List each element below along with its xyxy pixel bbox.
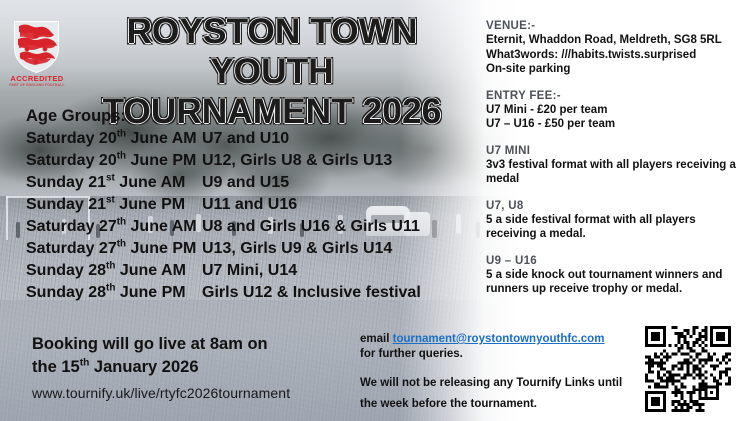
title-line-1: ROYSTON TOWN YOUTH bbox=[127, 12, 418, 91]
age-group-teams: U7 and U10 bbox=[202, 128, 289, 150]
contact-block: email tournament@roystontownyouthfc.com … bbox=[360, 332, 628, 415]
date-ordinal: st bbox=[106, 195, 115, 206]
date-ordinal: th bbox=[117, 129, 126, 140]
poster-title: ROYSTON TOWN YOUTH TOURNAMENT 2026 bbox=[72, 12, 472, 132]
venue-line: What3words: ///habits.twists.surprised bbox=[486, 48, 744, 63]
title-line-2: TOURNAMENT 2026 bbox=[72, 92, 472, 132]
email-prefix-label: email bbox=[360, 333, 393, 345]
qr-code-image bbox=[645, 326, 731, 412]
age-group-date: Saturday 20th June PM bbox=[26, 150, 202, 172]
age-group-row: Sunday 21st June AMU9 and U15 bbox=[26, 172, 456, 194]
u9-u16-format-block: U9 – U16 5 a side knock out tournament w… bbox=[486, 255, 744, 297]
qr-code-booking-link[interactable] bbox=[641, 322, 735, 416]
booking-line-1: Booking will go live at 8am on bbox=[32, 333, 342, 356]
age-group-date: Sunday 21st June AM bbox=[26, 172, 202, 194]
u7-mini-line: medal bbox=[486, 172, 744, 187]
venue-line: On-site parking bbox=[486, 62, 744, 77]
age-group-row: Sunday 28th June PMGirls U12 & Inclusive… bbox=[26, 282, 456, 304]
booking-block: Booking will go live at 8am on the 15th … bbox=[32, 333, 342, 401]
age-groups-heading: Age Groups: bbox=[26, 107, 126, 126]
age-group-teams: U12, Girls U8 & Girls U13 bbox=[202, 150, 392, 172]
date-ordinal: th bbox=[117, 217, 126, 228]
info-column: VENUE:- Eternit, Whaddon Road, Meldreth,… bbox=[486, 20, 744, 310]
tournify-note-line-1: We will not be releasing any Tournify Li… bbox=[360, 373, 628, 394]
u7-u8-line: receiving a medal. bbox=[486, 227, 744, 242]
crest-sublabel: PART OF ENGLAND FOOTBALL bbox=[9, 83, 65, 87]
age-group-date: Saturday 27th June PM bbox=[26, 238, 202, 260]
u9-u16-line: runners up receive trophy or medal. bbox=[486, 282, 744, 297]
u7-u8-line: 5 a side festival format with all player… bbox=[486, 213, 744, 228]
venue-block: VENUE:- Eternit, Whaddon Road, Meldreth,… bbox=[486, 20, 744, 77]
age-group-teams: U9 and U15 bbox=[202, 172, 289, 194]
u9-u16-heading: U9 – U16 bbox=[486, 255, 744, 267]
booking-ordinal: th bbox=[80, 358, 90, 369]
booking-line-2-pre: the 15 bbox=[32, 358, 80, 376]
date-ordinal: th bbox=[117, 151, 126, 162]
age-group-teams: U8 and Girls U16 & Girls U11 bbox=[202, 216, 420, 238]
age-group-teams: Girls U12 & Inclusive festival bbox=[202, 282, 421, 304]
entry-fee-line: U7 Mini - £20 per team bbox=[486, 103, 744, 118]
age-group-date: Saturday 20th June AM bbox=[26, 128, 202, 150]
venue-line: Eternit, Whaddon Road, Meldreth, SG8 5RL bbox=[486, 33, 744, 48]
tournament-poster: ACCREDITED PART OF ENGLAND FOOTBALL ROYS… bbox=[0, 0, 749, 421]
age-group-row: Sunday 21st June PMU11 and U16 bbox=[26, 194, 456, 216]
entry-fee-line: U7 – U16 - £50 per team bbox=[486, 117, 744, 132]
u9-u16-line: 5 a side knock out tournament winners an… bbox=[486, 268, 744, 283]
u7-mini-heading: U7 MINI bbox=[486, 145, 744, 157]
age-group-row: Saturday 27th June PMU13, Girls U9 & Gir… bbox=[26, 238, 456, 260]
tournify-note-line-2: the week before the tournament. bbox=[360, 394, 628, 415]
age-group-row: Saturday 20th June PMU12, Girls U8 & Gir… bbox=[26, 150, 456, 172]
age-group-teams: U7 Mini, U14 bbox=[202, 260, 297, 282]
age-group-teams: U11 and U16 bbox=[202, 194, 297, 216]
booking-url[interactable]: www.tournify.uk/live/rtyfc2026tournament bbox=[32, 385, 342, 401]
entry-fee-heading: ENTRY FEE:- bbox=[486, 90, 744, 102]
age-group-row: Saturday 20th June AMU7 and U10 bbox=[26, 128, 456, 150]
date-ordinal: st bbox=[106, 173, 115, 184]
u7-u8-heading: U7, U8 bbox=[486, 200, 744, 212]
entry-fee-block: ENTRY FEE:- U7 Mini - £20 per team U7 – … bbox=[486, 90, 744, 132]
age-group-row: Saturday 27th June AMU8 and Girls U16 & … bbox=[26, 216, 456, 238]
tournify-note: We will not be releasing any Tournify Li… bbox=[360, 373, 628, 415]
date-ordinal: th bbox=[106, 283, 115, 294]
date-ordinal: th bbox=[106, 261, 115, 272]
age-groups-list: Saturday 20th June AMU7 and U10Saturday … bbox=[26, 128, 456, 304]
age-group-row: Sunday 28th June AMU7 Mini, U14 bbox=[26, 260, 456, 282]
crest-accredited-label: ACCREDITED bbox=[9, 74, 65, 83]
age-group-teams: U13, Girls U9 & Girls U14 bbox=[202, 238, 392, 260]
u7-mini-format-block: U7 MINI 3v3 festival format with all pla… bbox=[486, 145, 744, 187]
age-group-date: Sunday 28th June AM bbox=[26, 260, 202, 282]
fa-accredited-crest: ACCREDITED PART OF ENGLAND FOOTBALL bbox=[9, 20, 65, 94]
email-row: email tournament@roystontownyouthfc.com bbox=[360, 332, 628, 347]
age-group-date: Sunday 21st June PM bbox=[26, 194, 202, 216]
three-lions-shield-icon bbox=[13, 20, 60, 74]
age-group-date: Sunday 28th June PM bbox=[26, 282, 202, 304]
booking-line-2: the 15th January 2026 bbox=[32, 356, 342, 379]
u7-u8-format-block: U7, U8 5 a side festival format with all… bbox=[486, 200, 744, 242]
date-ordinal: th bbox=[117, 239, 126, 250]
booking-line-2-post: January 2026 bbox=[89, 358, 198, 376]
tournament-email-link[interactable]: tournament@roystontownyouthfc.com bbox=[393, 333, 605, 345]
u7-mini-line: 3v3 festival format with all players rec… bbox=[486, 158, 744, 173]
age-group-date: Saturday 27th June AM bbox=[26, 216, 202, 238]
email-suffix-label: for further queries. bbox=[360, 347, 628, 362]
venue-heading: VENUE:- bbox=[486, 20, 744, 32]
